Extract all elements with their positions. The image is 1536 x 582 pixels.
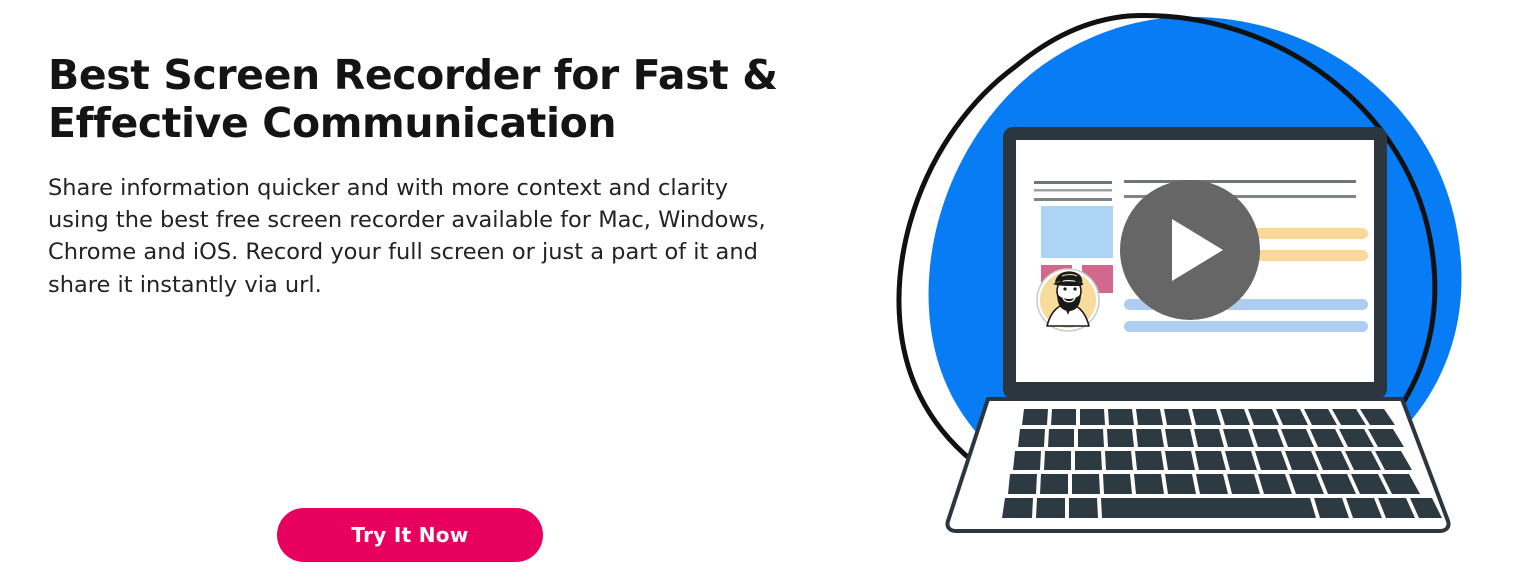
thumbnail-block — [1041, 206, 1113, 258]
page-title: Best Screen Recorder for Fast & Effectiv… — [48, 52, 788, 147]
play-button-overlay[interactable] — [1120, 180, 1260, 320]
cta-wrapper: Try It Now — [277, 508, 543, 562]
hero-copy-column: Best Screen Recorder for Fast & Effectiv… — [48, 0, 828, 582]
screen-recorder-laptop-illustration — [836, 0, 1536, 582]
try-it-now-button[interactable]: Try It Now — [277, 508, 543, 562]
text-line-long-1 — [1124, 180, 1356, 183]
text-line-short-2 — [1034, 189, 1112, 192]
laptop-base — [947, 399, 1448, 531]
hero-subtext: Share information quicker and with more … — [48, 172, 783, 301]
content-bar-blue-2 — [1124, 321, 1368, 332]
spacebar-key — [1101, 498, 1316, 518]
presenter-avatar — [1037, 269, 1099, 331]
hero-illustration — [836, 0, 1536, 582]
hero-section: Best Screen Recorder for Fast & Effectiv… — [0, 0, 1536, 582]
text-line-short-1 — [1034, 181, 1112, 184]
laptop-device — [947, 127, 1448, 531]
text-line-short-3 — [1034, 198, 1112, 201]
